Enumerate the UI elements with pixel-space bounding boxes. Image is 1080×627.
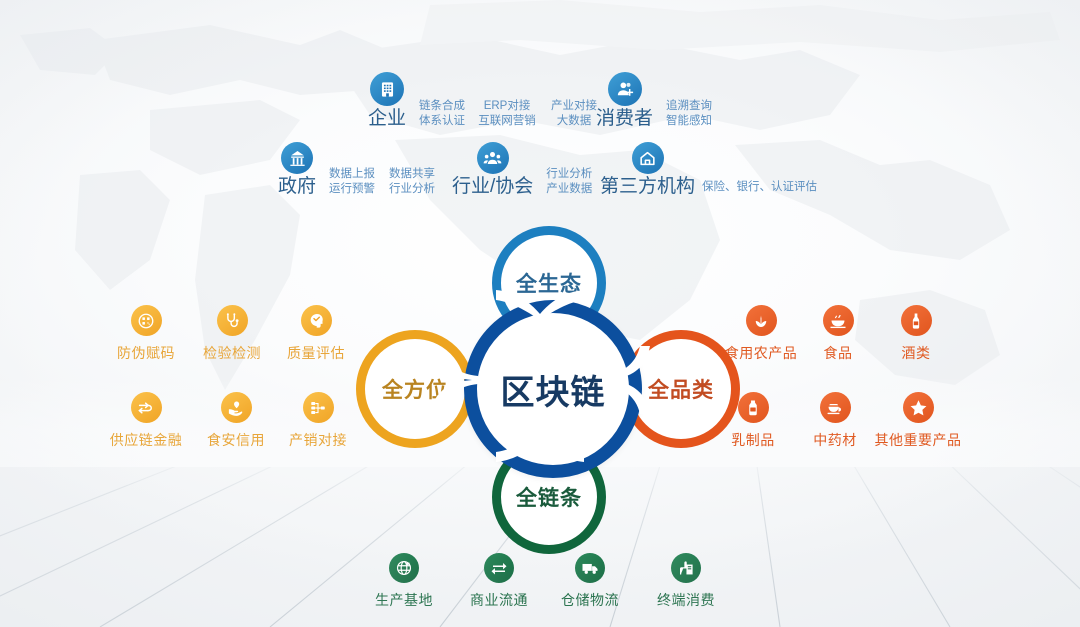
bottom-item-production-base[interactable]: 生产基地 [366,553,442,610]
stakeholder-label: 企业 [368,109,406,130]
right-item-food[interactable]: 食品 [808,305,868,363]
left-item-label: 供应链金融 [100,430,192,450]
tag: ERP对接 [471,99,543,114]
exchange-arrows-icon [484,553,514,583]
stakeholder-label: 政府 [278,177,316,198]
page-title: 区块链 [501,365,606,414]
finance-chain-icon [131,392,162,423]
right-item-label: 其他重要产品 [868,430,968,450]
right-item-agri-products[interactable]: 食用农产品 [722,305,800,363]
left-item-label: 质量评估 [280,343,352,363]
home-shield-icon [632,142,664,174]
bottom-item-label: 终端消费 [648,590,724,610]
users-add-icon [608,72,642,106]
bottom-item-end-consumption[interactable]: 终端消费 [648,553,724,610]
right-item-other-products[interactable]: 其他重要产品 [868,392,968,450]
stethoscope-icon [217,305,248,336]
tag: 行业分析 [540,167,598,182]
arrow-top-to-core [490,284,590,320]
connect-nodes-icon [303,392,334,423]
left-item-supply-chain-finance[interactable]: 供应链金融 [100,392,192,450]
stakeholder-tags: 行业分析 产业数据 [540,167,598,198]
left-item-production-marketing[interactable]: 产销对接 [282,392,354,450]
bottom-item-label: 商业流通 [461,590,537,610]
tag: 运行预警 [323,182,381,197]
bottom-item-warehouse-logistics[interactable]: 仓储物流 [552,553,628,610]
stakeholder-consumer[interactable]: 消费者 追溯查询 智能感知 [596,72,718,130]
tag: 追溯查询 [660,99,718,114]
arrow-left-to-core [424,340,478,420]
bowl-food-icon [823,305,854,336]
stakeholder-third-party[interactable]: 第三方机构 保险、银行、认证评估 [600,142,817,198]
right-item-label: 酒类 [886,343,946,363]
ring-label: 全链条 [516,482,582,512]
bottom-item-label: 仓储物流 [552,590,628,610]
left-item-food-safety-credit[interactable]: 食安信用 [200,392,272,450]
herb-pot-icon [820,392,851,423]
star-icon [903,392,934,423]
right-item-label: 食用农产品 [722,343,800,363]
left-item-label: 防伪赋码 [110,343,182,363]
right-item-alcohol[interactable]: 酒类 [886,305,946,363]
tag: 行业分析 [381,182,443,197]
tag: 数据共享 [381,167,443,182]
right-item-label: 食品 [808,343,868,363]
stakeholder-government[interactable]: 政府 数据上报 数据共享 运行预警 行业分析 [278,142,443,198]
hand-credit-icon [221,392,252,423]
left-item-quality-assessment[interactable]: 质量评估 [280,305,352,363]
left-item-label: 产销对接 [282,430,354,450]
arrow-right-to-core [602,340,656,420]
stakeholder-tags: 链条合成 ERP对接 产业对接 体系认证 互联网营销 大数据 [413,99,605,130]
stakeholder-tags: 保险、银行、认证评估 [702,180,817,198]
globe-leaf-icon [389,553,419,583]
stakeholder-label: 第三方机构 [600,177,695,198]
right-item-label: 乳制品 [720,430,786,450]
sprout-icon [746,305,777,336]
quality-head-icon [301,305,332,336]
right-item-label: 中药材 [802,430,868,450]
stakeholder-tags: 追溯查询 智能感知 [660,99,718,130]
ring-label: 全品类 [648,374,714,404]
tag: 产业数据 [540,182,598,197]
left-item-label: 检验检测 [196,343,268,363]
truck-icon [575,553,605,583]
tag: 体系认证 [413,114,471,129]
tag: 保险、银行、认证评估 [702,180,817,195]
tag: 智能感知 [660,114,718,129]
right-item-herbal-medicine[interactable]: 中药材 [802,392,868,450]
stakeholder-enterprise[interactable]: 企业 链条合成 ERP对接 产业对接 体系认证 互联网营销 大数据 [368,72,605,130]
stakeholder-label: 消费者 [596,109,653,130]
infographic-canvas: 企业 链条合成 ERP对接 产业对接 体系认证 互联网营销 大数据 [0,0,1080,627]
left-item-anti-counterfeit[interactable]: 防伪赋码 [110,305,182,363]
left-item-inspection[interactable]: 检验检测 [196,305,268,363]
government-building-icon [281,142,313,174]
group-people-icon [477,142,509,174]
qr-badge-icon [131,305,162,336]
bottom-item-label: 生产基地 [366,590,442,610]
stakeholder-tags: 数据上报 数据共享 运行预警 行业分析 [323,167,443,198]
wine-bottle-icon [901,305,932,336]
shopping-hand-icon [671,553,701,583]
arrow-bottom-to-core [490,432,590,468]
stakeholder-industry-association[interactable]: 行业/协会 行业分析 产业数据 [452,142,598,198]
building-grid-icon [370,72,404,106]
stakeholder-label: 行业/协会 [452,177,533,198]
tag: 互联网营销 [471,114,543,129]
tag: 数据上报 [323,167,381,182]
left-item-label: 食安信用 [200,430,272,450]
bottom-item-commercial-circulation[interactable]: 商业流通 [461,553,537,610]
tag: 链条合成 [413,99,471,114]
milk-bottle-icon [738,392,769,423]
